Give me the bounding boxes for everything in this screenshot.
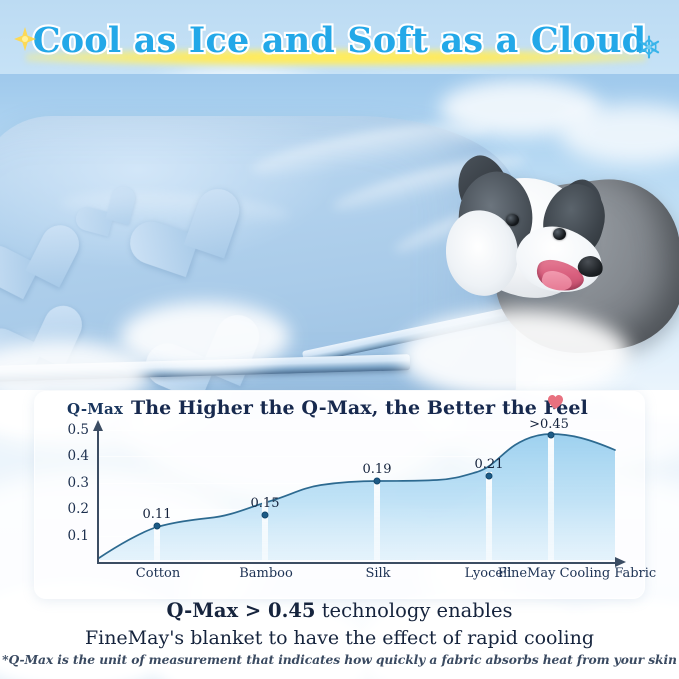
- y-tick-label: 0.1: [68, 528, 89, 544]
- tagline: Q-Max > 0.45 technology enables FineMay'…: [0, 597, 679, 652]
- data-point: [374, 478, 381, 485]
- category-marker: [374, 479, 380, 562]
- category-marker: [486, 472, 492, 562]
- product-photo: [0, 74, 679, 390]
- footnote: *Q-Max is the unit of measurement that i…: [0, 652, 679, 667]
- x-axis: [97, 562, 617, 564]
- x-tick-label: Bamboo: [239, 566, 293, 581]
- data-label: 0.15: [251, 496, 280, 511]
- snowflake-icon: [636, 34, 662, 60]
- sparkle-icon: [12, 26, 38, 52]
- dog-photo-subject: [432, 152, 644, 322]
- chart-plot-area: 0.1 0.2 0.3 0.4 0.5 0.11 0.15 0.19 0.21 …: [97, 430, 617, 562]
- data-label: 0.19: [363, 462, 392, 477]
- qmax-chart-card: Q-Max The Higher the Q-Max, the Better t…: [34, 391, 645, 599]
- data-label: >0.45: [529, 417, 569, 432]
- tagline-line2: FineMay's blanket to have the effect of …: [0, 625, 679, 652]
- chart-title: The Higher the Q-Max, the Better the Fee…: [131, 397, 571, 419]
- x-tick-label: Cotton: [136, 566, 180, 581]
- chart-curve: [97, 430, 617, 562]
- data-label: 0.21: [475, 457, 504, 472]
- y-axis-arrow-icon: [93, 420, 103, 431]
- y-tick-label: 0.3: [68, 475, 89, 491]
- x-tick-label: Silk: [365, 566, 390, 581]
- infographic-canvas: Cool as Ice and Soft as a Cloud: [0, 0, 679, 679]
- tagline-highlight: Q-Max > 0.45: [166, 599, 315, 622]
- y-tick-label: 0.5: [68, 422, 89, 438]
- data-point: [154, 523, 161, 530]
- category-marker: [548, 434, 554, 562]
- header-banner: Cool as Ice and Soft as a Cloud: [0, 0, 679, 86]
- heart-icon: [547, 394, 564, 410]
- data-point: [486, 473, 493, 480]
- data-point: [262, 512, 269, 519]
- data-label: 0.11: [143, 507, 172, 522]
- data-point: [548, 432, 555, 439]
- page-title: Cool as Ice and Soft as a Cloud: [0, 20, 679, 61]
- x-tick-label: FineMay Cooling Fabric: [498, 566, 656, 581]
- y-axis: [97, 430, 99, 562]
- tagline-line1-rest: technology enables: [316, 599, 513, 622]
- y-tick-label: 0.2: [68, 501, 89, 517]
- y-axis-title: Q-Max: [67, 400, 123, 418]
- y-tick-label: 0.4: [68, 448, 89, 464]
